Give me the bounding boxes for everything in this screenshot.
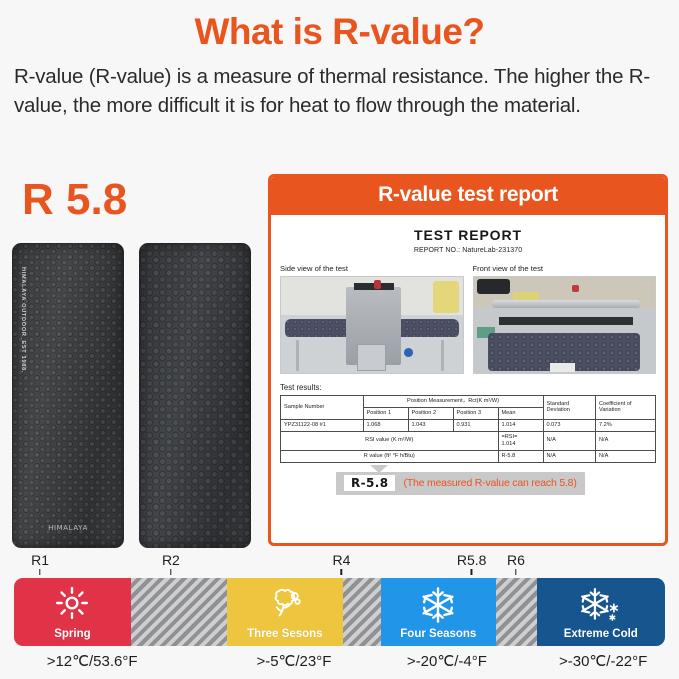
sleeping-pad-back	[139, 243, 251, 548]
col-position-3: Position 3	[453, 407, 498, 419]
report-banner-title: R-value test report	[271, 177, 665, 215]
cell-std: 0.073	[543, 419, 596, 431]
page-title: What is R-value?	[0, 0, 679, 53]
cell-pos3: 0.931	[453, 419, 498, 431]
intro-paragraph: R-value (R-value) is a measure of therma…	[14, 62, 665, 120]
rvalue-summary: R 5.8	[12, 178, 262, 222]
scale-tick-r4: R4	[332, 552, 350, 568]
season-segment-three-sesons: Three Sesons	[227, 578, 343, 646]
season-label: Three Sesons	[247, 628, 322, 640]
cell-rsi-cov: N/A	[596, 431, 656, 450]
snowflake-icon	[419, 586, 457, 629]
col-position-measurement-group: Position Measurement，Rct(K m²/W)	[363, 396, 543, 408]
rvalue-callout-wrap: R-5.8 (The measured R-value can reach 5.…	[280, 465, 656, 495]
scale-tick-r6: R6	[507, 552, 525, 568]
col-position-1: Position 1	[363, 407, 408, 419]
test-results-table: Sample Number Position Measurement，Rct(K…	[280, 395, 656, 463]
scale-tick-r1: R1	[31, 552, 49, 568]
season-segment-four-seasons: Four Seasons	[381, 578, 496, 646]
season-bar: SpringThree SesonsFour SeasonsExtreme Co…	[14, 578, 665, 646]
scale-gap-segment-1	[131, 578, 227, 646]
infographic-page: What is R-value? R-value (R-value) is a …	[0, 0, 679, 679]
cell-mean: 1.014	[498, 419, 543, 431]
front-view-column: Front view of the test	[473, 264, 657, 374]
cell-pos1: 1.068	[363, 419, 408, 431]
callout-note: (The measured R-value can reach 5.8)	[403, 477, 576, 489]
temperature-label-0: >12℃/53.6°F	[47, 652, 138, 670]
rvalue-season-scale: R1R2R4R5.8R6 SpringThree SesonsFour Seas…	[14, 552, 665, 678]
cell-rsi-mean: =RSI= 1.014	[498, 431, 543, 450]
callout-rvalue-chip: R-5.8	[344, 475, 395, 491]
temperature-label-2: >-20℃/-4°F	[407, 652, 487, 670]
temperature-label-3: >-30℃/-22°F	[559, 652, 647, 670]
scale-tick-row: R1R2R4R5.8R6	[14, 552, 665, 578]
season-label: Spring	[54, 628, 90, 640]
season-label: Extreme Cold	[564, 628, 638, 640]
cell-rsi-std: N/A	[543, 431, 596, 450]
season-segment-spring: Spring	[14, 578, 131, 646]
snow-cold-icon	[579, 586, 623, 629]
table-header-row-1: Sample Number Position Measurement，Rct(K…	[281, 396, 656, 408]
season-label: Four Seasons	[400, 628, 476, 640]
pad-logo: HIMALAYA	[48, 524, 88, 532]
sleeping-pad-images: HIMALAYA OUTDOOR_EST 1988. HIMALAYA	[12, 243, 264, 548]
col-sample-number: Sample Number	[281, 396, 364, 420]
side-view-photo	[280, 276, 464, 374]
col-mean: Mean	[498, 407, 543, 419]
col-coefficient-variation: Coefficient of Variation	[596, 396, 656, 420]
test-report-card: R-value test report TEST REPORT REPORT N…	[268, 174, 668, 546]
cell-rvalue-label: R value (ft² °F h/Btu)	[281, 450, 499, 462]
temperature-label-1: >-5℃/23°F	[256, 652, 331, 670]
scale-tick-r5-8: R5.8	[457, 552, 487, 568]
table-row: YPZ31122-08 #1 1.068 1.043 0.931 1.014 0…	[281, 419, 656, 431]
report-photos: Side view of the test Front view of the …	[280, 264, 656, 374]
cell-cov: 7.2%	[596, 419, 656, 431]
table-row-rsi: RSI value (K m²/W) =RSI= 1.014 N/A N/A	[281, 431, 656, 450]
scale-tick-r2: R2	[162, 552, 180, 568]
cell-sample: YPZ31122-08 #1	[281, 419, 364, 431]
test-results-label: Test results:	[280, 383, 656, 392]
table-row-rvalue: R value (ft² °F h/Btu) R-5.8 N/A N/A	[281, 450, 656, 462]
side-view-column: Side view of the test	[280, 264, 464, 374]
report-body: TEST REPORT REPORT NO.: NatureLab-231370…	[271, 215, 665, 501]
cell-rsi-label: RSI value (K m²/W)	[281, 431, 499, 450]
cell-pos2: 1.043	[408, 419, 453, 431]
report-title: TEST REPORT	[280, 227, 656, 243]
side-view-caption: Side view of the test	[280, 264, 464, 273]
cell-rvalue-std: N/A	[543, 450, 596, 462]
report-number: REPORT NO.: NatureLab-231370	[280, 247, 656, 254]
front-view-photo	[473, 276, 657, 374]
col-position-2: Position 2	[408, 407, 453, 419]
flower-icon	[267, 586, 303, 625]
cell-rvalue-cov: N/A	[596, 450, 656, 462]
sleeping-pad-front: HIMALAYA OUTDOOR_EST 1988. HIMALAYA	[12, 243, 124, 548]
front-view-caption: Front view of the test	[473, 264, 657, 273]
temperature-row: >12℃/53.6°F>-5℃/23°F>-20℃/-4°F>-30℃/-22°…	[14, 652, 665, 678]
sun-icon	[55, 586, 89, 625]
rvalue-headline: R 5.8	[22, 178, 262, 222]
col-standard-deviation: Standard Deviation	[543, 396, 596, 420]
cell-rvalue-mean: R-5.8	[498, 450, 543, 462]
scale-gap-segment-3	[343, 578, 381, 646]
pad-brand-side-text: HIMALAYA OUTDOOR_EST 1988.	[20, 267, 26, 373]
season-segment-extreme-cold: Extreme Cold	[537, 578, 665, 646]
rvalue-callout: R-5.8 (The measured R-value can reach 5.…	[336, 472, 585, 495]
scale-gap-segment-5	[496, 578, 537, 646]
